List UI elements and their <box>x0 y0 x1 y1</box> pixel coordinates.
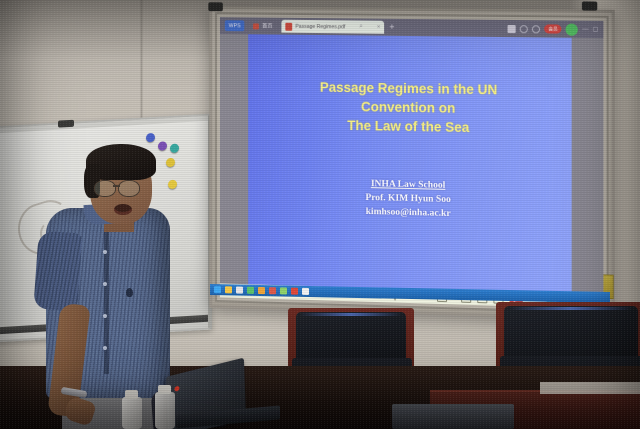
grid-icon[interactable] <box>508 24 516 32</box>
tab-title: Passage Regimes.pdf <box>295 23 345 29</box>
taskbar-icon-tool[interactable] <box>280 287 287 294</box>
magnet-blue-icon <box>146 133 155 143</box>
water-bottle-left <box>122 397 142 429</box>
home-icon <box>253 23 259 29</box>
home-label: 首页 <box>262 23 273 30</box>
water-bottle-right <box>155 392 175 429</box>
shirt-button <box>103 282 107 286</box>
taskbar-icon-media[interactable] <box>269 287 276 294</box>
minimize-button[interactable]: — <box>582 26 588 32</box>
pdf-icon <box>286 22 293 30</box>
classroom-photo: WPS 首页 Passage Regimes.pdf ⌕ × + <box>0 0 640 429</box>
taskbar-icon-chat[interactable] <box>258 287 265 294</box>
taskbar-icon-group <box>214 286 309 295</box>
glasses-left-lens <box>94 180 116 197</box>
help-icon[interactable] <box>532 25 540 33</box>
slide-title-line3: The Law of the Sea <box>267 115 552 139</box>
shirt-button <box>103 314 107 318</box>
taskbar-icon-doc[interactable] <box>302 288 309 295</box>
titlebar-right-controls: 会员 — ▢ <box>508 22 599 35</box>
tab-search-icon[interactable]: ⌕ <box>359 24 362 31</box>
water-bottle-left-cap <box>125 390 138 399</box>
avatar[interactable] <box>566 23 578 35</box>
wps-logo-chip[interactable]: WPS <box>225 20 245 31</box>
vip-badge[interactable]: 会员 <box>544 24 562 33</box>
taskbar-icon-start[interactable] <box>214 286 221 293</box>
taskbar-icon-chrome[interactable] <box>291 288 298 295</box>
document-canvas: Passage Regimes in the UN Convention on … <box>220 34 603 295</box>
taskbar-icon-wps[interactable] <box>236 287 243 294</box>
chair-highlight <box>509 307 632 310</box>
shirt-button <box>103 250 107 254</box>
whiteboard-clip <box>58 120 74 128</box>
projection-screen: WPS 首页 Passage Regimes.pdf ⌕ × + <box>209 6 614 320</box>
slide-subtitle: INHA Law School Prof. KIM Hyun Soo kimhs… <box>273 175 545 224</box>
thinkpad-logo-icon <box>174 386 179 392</box>
chair-right-back <box>504 306 638 360</box>
new-tab-button[interactable]: + <box>389 23 394 32</box>
settings-icon[interactable] <box>520 25 528 33</box>
shirt-placket <box>104 224 109 374</box>
chair-center-back <box>296 312 406 362</box>
presenter-sleeve <box>33 231 82 312</box>
shirt-pocket-logo <box>126 288 133 297</box>
glasses-right-lens <box>118 180 140 197</box>
close-icon[interactable]: × <box>377 24 380 30</box>
presenter <box>38 146 178 429</box>
laptop-secondary <box>392 404 514 429</box>
wps-label: WPS <box>229 23 241 29</box>
table-paper <box>540 382 640 394</box>
slide-title: Passage Regimes in the UN Convention on … <box>267 77 552 139</box>
wps-office-window: WPS 首页 Passage Regimes.pdf ⌕ × + <box>220 17 603 309</box>
presentation-slide: Passage Regimes in the UN Convention on … <box>248 34 572 294</box>
screen-mount-left <box>208 2 223 11</box>
taskbar-icon-explorer[interactable] <box>225 286 232 293</box>
maximize-button[interactable]: ▢ <box>592 26 598 33</box>
water-bottle-right-cap <box>158 385 171 394</box>
shirt-button <box>103 346 107 350</box>
document-tab[interactable]: Passage Regimes.pdf ⌕ × <box>282 20 385 34</box>
screen-mount-right <box>582 1 597 10</box>
taskbar-icon-browser[interactable] <box>247 287 254 294</box>
glasses-bridge <box>113 185 120 187</box>
home-tab-chip[interactable]: 首页 <box>250 20 277 31</box>
chair-highlight <box>300 313 401 316</box>
presenter-mouth <box>114 204 132 215</box>
